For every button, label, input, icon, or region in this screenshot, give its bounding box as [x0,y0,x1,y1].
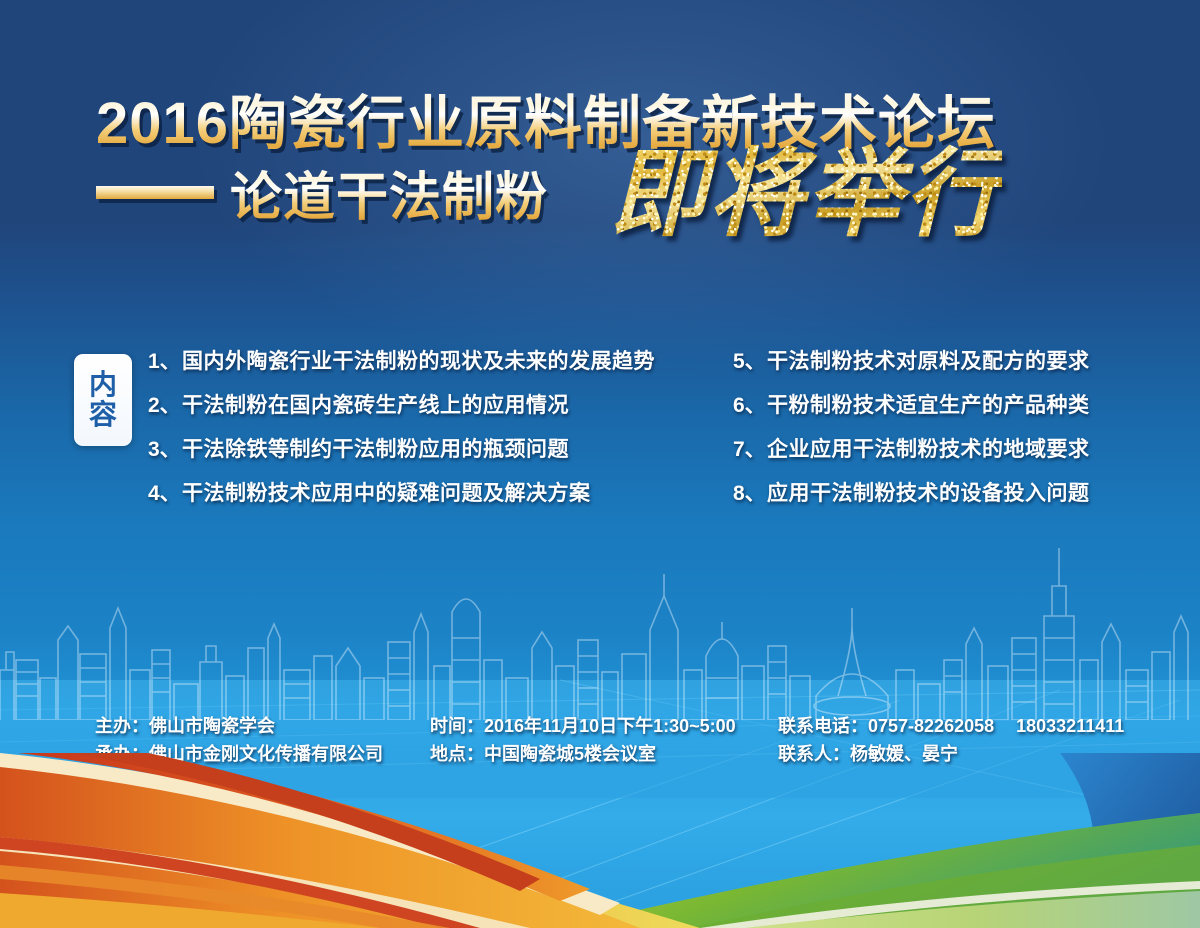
item-number: 7、 [733,428,767,472]
list-item: 6、 干粉制粉技术适宜生产的产品种类 [733,384,1173,428]
item-text: 干法制粉技术应用中的疑难问题及解决方案 [182,472,591,516]
list-item: 5、 干法制粉技术对原料及配方的要求 [733,340,1173,384]
content-badge: 内 容 [74,354,132,446]
subtitle-text: 论道干法制粉 [230,155,548,230]
list-item: 3、 干法除铁等制约干法制粉应用的瓶颈问题 [148,428,728,472]
ribbon-graphic [0,753,1200,928]
item-number: 8、 [733,472,767,516]
item-text: 应用干法制粉技术的设备投入问题 [767,472,1090,516]
highlight-headline: 即将举行 [610,140,1002,250]
organizer-line: 主办：佛山市陶瓷学会 [95,712,383,740]
item-number: 6、 [733,384,767,428]
item-text: 干粉制粉技术适宜生产的产品种类 [767,384,1090,428]
item-number: 1、 [148,340,182,384]
badge-char-2: 容 [89,400,117,430]
item-text: 国内外陶瓷行业干法制粉的现状及未来的发展趋势 [182,340,655,384]
bottom-ribbons [0,753,1200,928]
item-text: 干法除铁等制约干法制粉应用的瓶颈问题 [182,428,569,472]
item-number: 2、 [148,384,182,428]
dash-line-icon [96,186,214,199]
item-number: 4、 [148,472,182,516]
content-section: 内 容 1、 国内外陶瓷行业干法制粉的现状及未来的发展趋势 2、 干法制粉在国内… [0,340,1200,530]
item-number: 3、 [148,428,182,472]
list-item: 8、 应用干法制粉技术的设备投入问题 [733,472,1173,516]
item-number: 5、 [733,340,767,384]
phone-line: 联系电话：0757-8226205818033211411 [778,712,1124,740]
item-text: 干法制粉技术对原料及配方的要求 [767,340,1090,384]
content-column-right: 5、 干法制粉技术对原料及配方的要求 6、 干粉制粉技术适宜生产的产品种类 7、… [733,340,1173,516]
list-item: 4、 干法制粉技术应用中的疑难问题及解决方案 [148,472,728,516]
list-item: 7、 企业应用干法制粉技术的地域要求 [733,428,1173,472]
badge-char-1: 内 [89,370,117,400]
phone-label-number: 联系电话：0757-82262058 [778,716,994,736]
page-subtitle: 论道干法制粉 [96,155,548,230]
title-block: 2016陶瓷行业原料制备新技术论坛 论道干法制粉 即将举行 [0,0,1200,300]
item-text: 干法制粉在国内瓷砖生产线上的应用情况 [182,384,569,428]
city-skyline-icon [0,520,1200,720]
content-column-left: 1、 国内外陶瓷行业干法制粉的现状及未来的发展趋势 2、 干法制粉在国内瓷砖生产… [148,340,728,516]
time-line: 时间：2016年11月10日下午1:30~5:00 [430,712,736,740]
list-item: 1、 国内外陶瓷行业干法制粉的现状及未来的发展趋势 [148,340,728,384]
item-text: 企业应用干法制粉技术的地域要求 [767,428,1090,472]
poster-root: 2016陶瓷行业原料制备新技术论坛 论道干法制粉 即将举行 [0,0,1200,928]
phone-number-2: 18033211411 [1016,716,1124,736]
list-item: 2、 干法制粉在国内瓷砖生产线上的应用情况 [148,384,728,428]
